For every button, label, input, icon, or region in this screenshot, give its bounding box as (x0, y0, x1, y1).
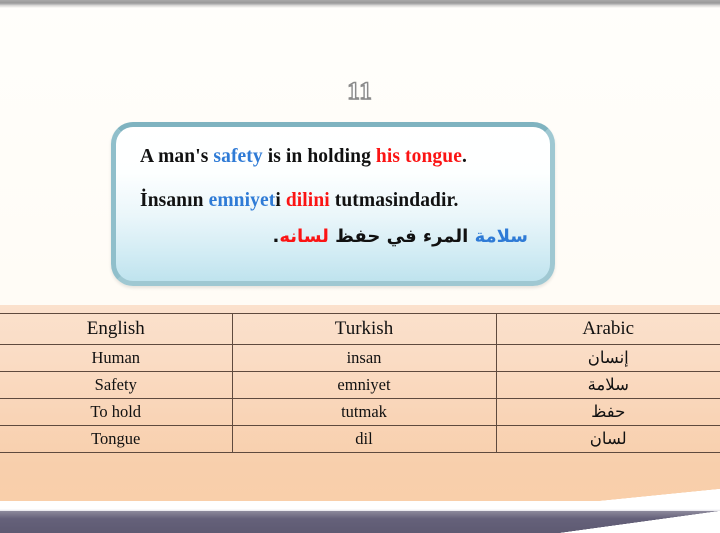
english-seg-safety: safety (213, 146, 262, 167)
proverb-line-arabic: سلامة المرء في حفظ لسانه. (140, 226, 530, 247)
proverb-callout-box: A man's safety is in holding his tongue.… (111, 122, 555, 286)
proverb-callout-content: A man's safety is in holding his tongue.… (116, 127, 550, 281)
english-seg-period: . (462, 146, 467, 167)
proverb-line-english: A man's safety is in holding his tongue. (140, 146, 530, 168)
table-row: Human insan إنسان (0, 345, 720, 372)
slide-canvas: 11 A man's safety is in holding his tong… (0, 0, 720, 533)
cell-turkish: dil (232, 426, 496, 453)
cell-turkish: tutmak (232, 399, 496, 426)
turkish-seg-1: İnsanın (140, 190, 209, 211)
cell-arabic: سلامة (496, 372, 720, 399)
cell-turkish: insan (232, 345, 496, 372)
arabic-seg-lisanihi: لسانه (279, 226, 329, 247)
footer-bar (0, 511, 720, 533)
arabic-seg-2: المرء في حفظ (329, 226, 475, 247)
table-header-row: English Turkish Arabic (0, 314, 720, 345)
cell-english: Safety (0, 372, 232, 399)
cell-arabic: لسان (496, 426, 720, 453)
arabic-seg-salama: سلامة (475, 226, 528, 247)
table-header-english: English (0, 314, 232, 345)
turkish-seg-5: tutmasindadir. (330, 190, 459, 211)
english-seg-1: A man's (140, 146, 213, 167)
slide-top-rule-shadow (0, 5, 720, 8)
cell-english: Human (0, 345, 232, 372)
cell-english: To hold (0, 399, 232, 426)
proverb-line-turkish: İnsanın emniyeti dilini tutmasindadir. (140, 190, 530, 212)
table-header-turkish: Turkish (232, 314, 496, 345)
turkish-seg-dilini: dilini (286, 190, 330, 211)
cell-arabic: إنسان (496, 345, 720, 372)
vocabulary-table-region: English Turkish Arabic Human insan إنسان… (0, 305, 720, 501)
table-row: Tongue dil لسان (0, 426, 720, 453)
cell-arabic: حفظ (496, 399, 720, 426)
slide-number: 11 (0, 78, 720, 106)
english-seg-his-tongue: his tongue (376, 146, 462, 167)
turkish-seg-emniyet: emniyet (209, 190, 276, 211)
turkish-seg-3: i (275, 190, 286, 211)
english-seg-3: is in holding (263, 146, 376, 167)
cell-english: Tongue (0, 426, 232, 453)
vocabulary-table: English Turkish Arabic Human insan إنسان… (0, 313, 720, 453)
table-row: Safety emniyet سلامة (0, 372, 720, 399)
cell-turkish: emniyet (232, 372, 496, 399)
table-header-arabic: Arabic (496, 314, 720, 345)
table-row: To hold tutmak حفظ (0, 399, 720, 426)
